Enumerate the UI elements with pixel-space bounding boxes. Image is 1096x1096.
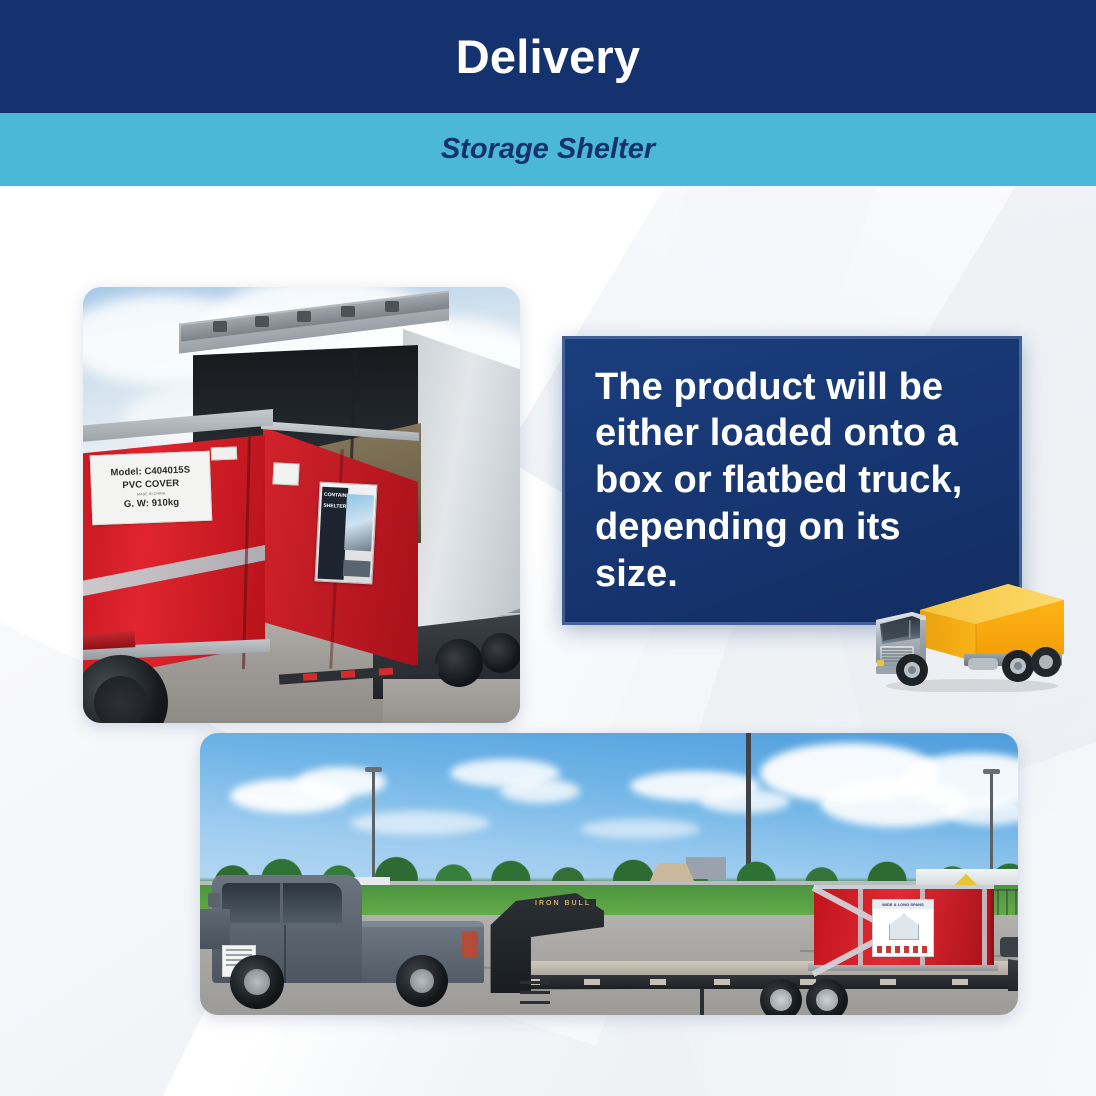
poster-title: WIDE & LONG SPANS [873, 900, 933, 909]
poster-line-1: CONTAINER [324, 492, 348, 499]
cloud [700, 789, 790, 813]
photo-content: Model: C404015S PVC COVER MADE IN CHINA … [83, 287, 520, 723]
trailer-wheel [760, 979, 802, 1015]
trailer-wheel [806, 979, 848, 1015]
crate-shipping-label: Model: C404015S PVC COVER MADE IN CHINA … [90, 451, 213, 526]
door-hook [255, 316, 269, 327]
header-title-band: Delivery [0, 0, 1096, 113]
fuel-tank [968, 658, 998, 670]
crate-label-fineprint: MADE IN CHINA [137, 492, 166, 497]
reflector [714, 979, 730, 985]
delivery-truck-icon [868, 562, 1068, 692]
truck-wheel [481, 633, 520, 673]
pickup-wheel [396, 955, 448, 1007]
crate-label-weight: G. W: 910kg [124, 498, 180, 510]
headlight [877, 660, 884, 666]
distant-car [1000, 937, 1018, 957]
decal-line [226, 949, 252, 951]
poster-color-strip [877, 946, 931, 953]
poster-image [344, 494, 374, 551]
photo-flatbed: IRON BULL WIDE & LONG SPANS [200, 733, 1018, 1015]
poster-footer [343, 560, 371, 577]
shelter-illustration [889, 914, 919, 940]
crate-product-poster: WIDE & LONG SPANS [872, 899, 934, 957]
reflector [952, 979, 968, 985]
reflector [303, 673, 317, 681]
truck-wheel [435, 639, 483, 687]
crate-vertical-post [858, 889, 863, 965]
distant-building [686, 857, 726, 879]
reflector [880, 979, 896, 985]
door-hook [213, 321, 227, 332]
door-hook [385, 301, 399, 312]
crate-label-model: Model: C404015S [110, 465, 190, 478]
pickup-wheel [230, 955, 284, 1009]
flatbed-tail-ramp [1008, 959, 1018, 991]
crate-label-product: PVC COVER [122, 479, 179, 491]
delivery-truck-svg [868, 562, 1068, 692]
header-subtitle-band: Storage Shelter [0, 113, 1096, 186]
red-crate: WIDE & LONG SPANS [814, 885, 994, 965]
crate-sticker [272, 462, 299, 485]
flatbed-deck-side [500, 975, 1018, 989]
page-title: Delivery [456, 33, 641, 80]
trailer-steps [520, 981, 550, 1011]
pickup-door-seam [284, 925, 286, 983]
reflector [341, 670, 355, 678]
page-subtitle: Storage Shelter [441, 135, 655, 164]
trailer-jack [700, 989, 704, 1015]
door-hook [341, 306, 355, 317]
slide-canvas: Delivery Storage Shelter [0, 0, 1096, 1096]
trailer-brand-plate: IRON BULL [530, 899, 596, 910]
reflector [379, 668, 393, 676]
photo-content: IRON BULL WIDE & LONG SPANS [200, 733, 1018, 1015]
pickup-tail-light [462, 931, 478, 957]
crate-sticker [211, 447, 237, 461]
poster-line-2: SHELTER [323, 503, 347, 510]
pickup-mirror [208, 893, 220, 907]
cloud [350, 811, 490, 835]
door-hook [297, 311, 311, 322]
cloud [500, 779, 580, 803]
cloud [580, 819, 700, 839]
pickup-hood [200, 909, 230, 949]
reflector [650, 979, 666, 985]
crate-vertical-post [982, 889, 987, 965]
pickup-window [222, 883, 342, 923]
trailer-brand-text: IRON BULL [535, 900, 591, 907]
reflector [584, 979, 600, 985]
crate-product-poster: CONTAINER SHELTER [314, 482, 377, 585]
photo-truck-loading: Model: C404015S PVC COVER MADE IN CHINA … [83, 287, 520, 723]
poster-header: WIDE & LONG SPANS [873, 900, 933, 909]
